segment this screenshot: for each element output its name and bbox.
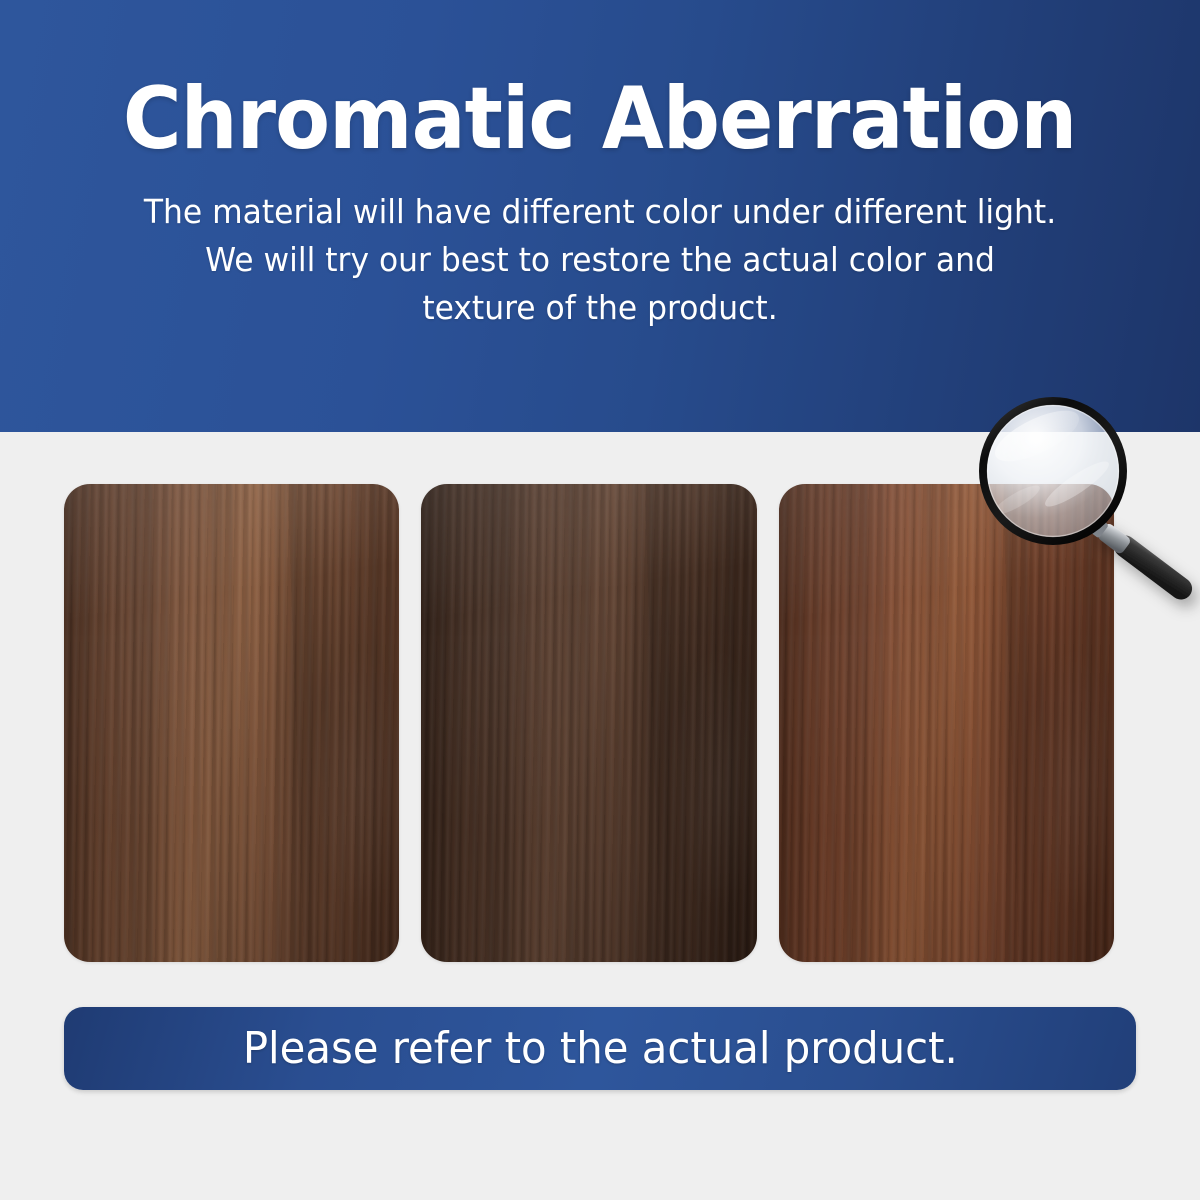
- subtitle-line-1: The material will have different color u…: [111, 188, 1090, 236]
- wood-sheen-overlay: [421, 484, 756, 962]
- wood-sheen-overlay: [64, 484, 399, 962]
- header-banner: Chromatic Aberration The material will h…: [0, 0, 1200, 432]
- subtitle-line-2: We will try our best to restore the actu…: [111, 236, 1090, 284]
- page-title: Chromatic Aberration: [123, 76, 1076, 162]
- footer-banner-text: Please refer to the actual product.: [242, 1027, 957, 1071]
- footer-banner: Please refer to the actual product.: [64, 1007, 1136, 1090]
- wood-swatch-row: [64, 484, 1114, 962]
- wood-swatch-1: [64, 484, 399, 962]
- subtitle-line-3: texture of the product.: [111, 284, 1090, 332]
- infographic-page: Chromatic Aberration The material will h…: [0, 0, 1200, 1200]
- wood-swatch-3: [779, 484, 1114, 962]
- header-content: Chromatic Aberration The material will h…: [0, 0, 1200, 432]
- header-subtitle: The material will have different color u…: [111, 188, 1090, 333]
- wood-sheen-overlay: [779, 484, 1114, 962]
- wood-swatch-2: [421, 484, 756, 962]
